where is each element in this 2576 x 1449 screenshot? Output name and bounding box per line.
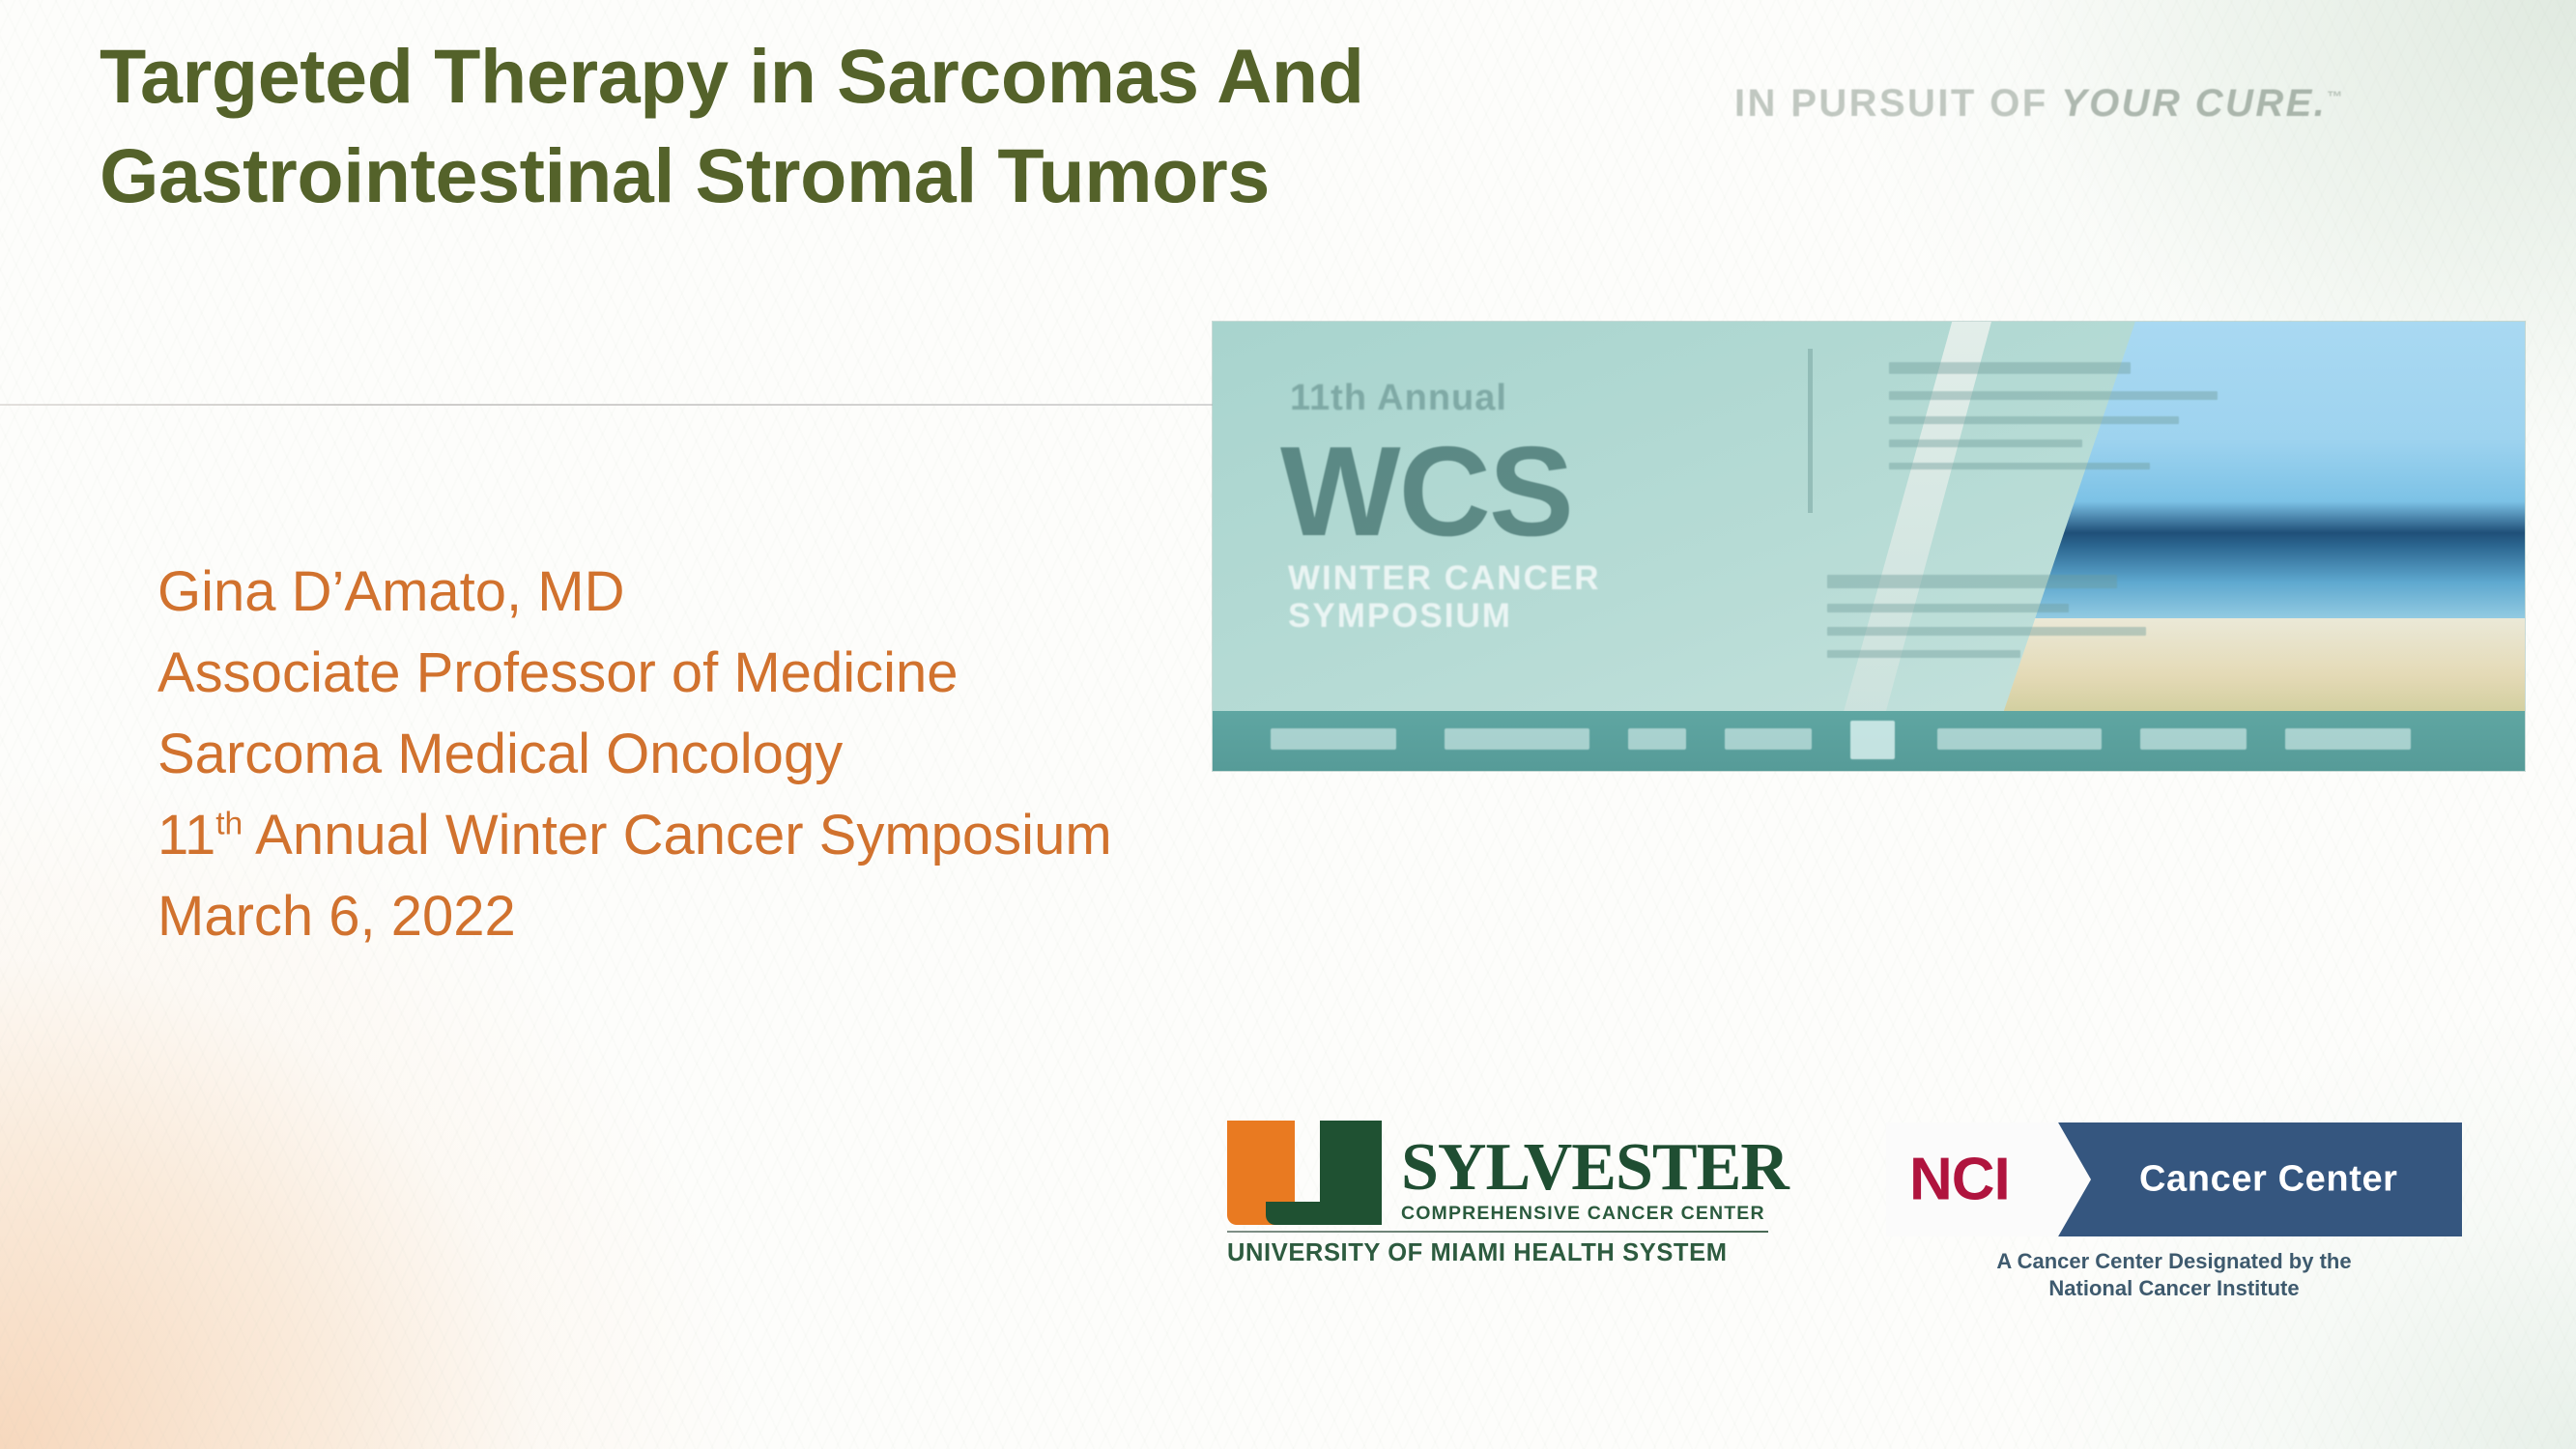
- banner-vertical-rule: [1808, 349, 1813, 513]
- brand-tagline: IN PURSUIT OF YOUR CURE.™: [1734, 82, 2342, 126]
- sylvester-subtitle: COMPREHENSIVE CANCER CENTER: [1401, 1203, 1789, 1225]
- tagline-lead: IN PURSUIT OF: [1734, 82, 2048, 125]
- sylvester-divider: [1227, 1231, 1768, 1233]
- nci-cancer-center-logo: NCI Cancer Center A Cancer Center Design…: [1886, 1122, 2462, 1301]
- speaker-department: Sarcoma Medical Oncology: [157, 714, 1112, 795]
- presentation-slide: Targeted Therapy in Sarcomas And Gastroi…: [0, 0, 2576, 1449]
- event-date: March 6, 2022: [157, 876, 1112, 957]
- miami-u-mark-icon: [1227, 1121, 1393, 1225]
- nci-logo-box: NCI Cancer Center: [1886, 1122, 2462, 1236]
- banner-detail-line: [1827, 604, 2069, 612]
- speaker-name: Gina D’Amato, MD: [157, 552, 1112, 633]
- banner-detail-line: [1827, 575, 2117, 588]
- banner-subtitle-line-1: WINTER CANCER: [1288, 559, 1600, 597]
- wcs-symposium-banner-image: 11th Annual WCS WINTER CANCER SYMPOSIUM: [1213, 322, 2525, 771]
- sylvester-logo-row: SYLVESTER COMPREHENSIVE CANCER CENTER: [1227, 1121, 1768, 1225]
- banner-sponsor-logo: [1445, 728, 1589, 750]
- banner-detail-line: [1827, 627, 2146, 636]
- nci-designation-caption: A Cancer Center Designated by the Nation…: [1886, 1248, 2462, 1301]
- banner-sponsor-logo: [1850, 721, 1895, 759]
- banner-sponsor-logo: [1937, 728, 2102, 750]
- u-mark-green-stroke: [1320, 1121, 1382, 1225]
- banner-sponsor-logo: [2285, 728, 2411, 750]
- event-number: 11: [157, 804, 215, 867]
- banner-sponsor-logo: [2140, 728, 2247, 750]
- banner-detail-line: [1889, 416, 2179, 424]
- speaker-role: Associate Professor of Medicine: [157, 633, 1112, 714]
- banner-subtitle: WINTER CANCER SYMPOSIUM: [1288, 559, 1600, 635]
- banner-detail-line: [1889, 440, 2082, 447]
- banner-annual-label: 11th Annual: [1290, 378, 1507, 419]
- event-name: 11th Annual Winter Cancer Symposium: [157, 795, 1112, 876]
- banner-sponsor-strip: [1213, 711, 2525, 771]
- sylvester-health-system: UNIVERSITY OF MIAMI HEALTH SYSTEM: [1227, 1239, 1768, 1267]
- event-name-rest: Annual Winter Cancer Symposium: [243, 804, 1111, 867]
- nci-caption-line-2: National Cancer Institute: [1886, 1275, 2462, 1302]
- banner-detail-line: [1889, 463, 2150, 469]
- sylvester-name: SYLVESTER: [1401, 1135, 1789, 1200]
- nci-caption-line-1: A Cancer Center Designated by the: [1886, 1248, 2462, 1275]
- banner-sponsor-logo: [1271, 728, 1396, 750]
- speaker-info-block: Gina D’Amato, MD Associate Professor of …: [157, 552, 1112, 957]
- banner-detail-line: [1889, 391, 2218, 400]
- page-title: Targeted Therapy in Sarcomas And Gastroi…: [100, 27, 1684, 225]
- title-line-2: Gastrointestinal Stromal Tumors: [100, 127, 1684, 226]
- title-line-1: Targeted Therapy in Sarcomas And: [100, 27, 1684, 127]
- header-divider: [0, 404, 1213, 406]
- sylvester-wordmark: SYLVESTER COMPREHENSIVE CANCER CENTER: [1393, 1135, 1789, 1225]
- trademark-symbol: ™: [2327, 90, 2342, 106]
- banner-detail-line: [1889, 362, 2131, 374]
- nci-acronym: NCI: [1909, 1146, 2010, 1214]
- banner-subtitle-line-2: SYMPOSIUM: [1288, 597, 1600, 635]
- banner-acronym: WCS: [1280, 418, 1572, 564]
- banner-sponsor-logo: [1725, 728, 1812, 750]
- event-ordinal-suffix: th: [215, 807, 243, 842]
- tagline-emphasis: YOUR CURE.: [2061, 82, 2327, 125]
- sylvester-logo: SYLVESTER COMPREHENSIVE CANCER CENTER UN…: [1227, 1121, 1768, 1267]
- banner-detail-line: [1827, 650, 2020, 658]
- nci-label: Cancer Center: [2139, 1159, 2398, 1201]
- banner-sponsor-logo: [1628, 728, 1686, 750]
